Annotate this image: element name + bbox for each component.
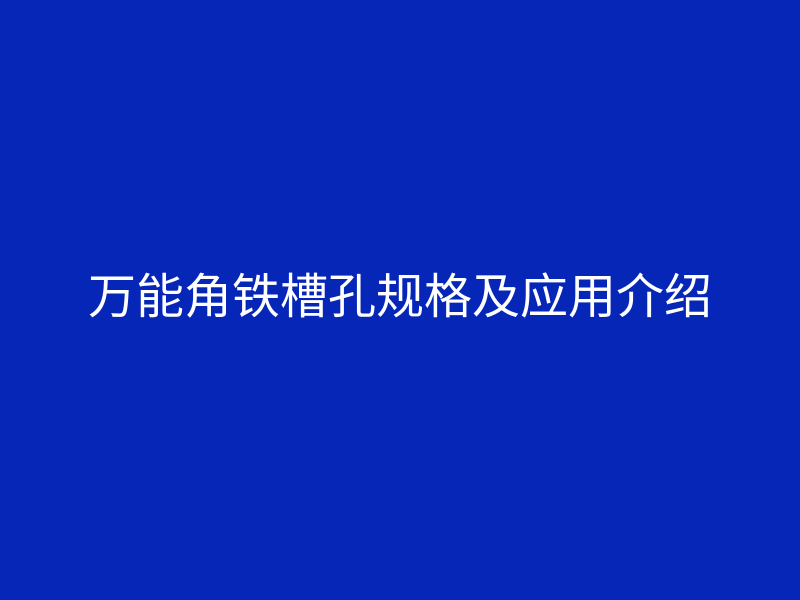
title-card-canvas: 万能角铁槽孔规格及应用介绍 (0, 0, 800, 600)
page-title: 万能角铁槽孔规格及应用介绍 (0, 273, 800, 321)
title-block: 万能角铁槽孔规格及应用介绍 (0, 273, 800, 321)
